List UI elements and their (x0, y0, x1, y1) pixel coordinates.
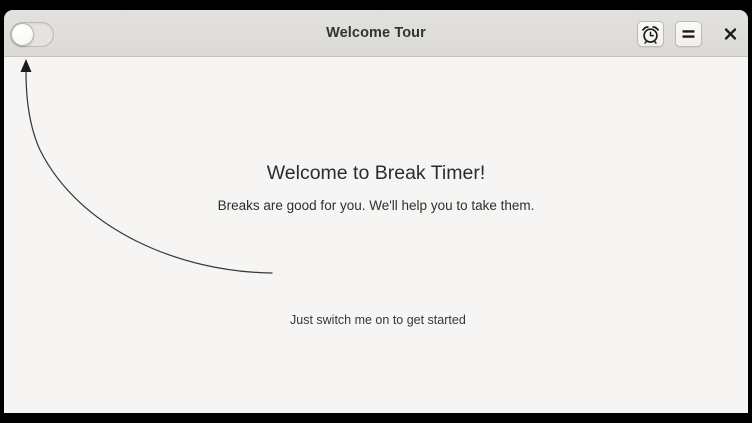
menu-button[interactable] (675, 21, 702, 47)
app-window: Welcome Tour (4, 10, 748, 413)
toggle-knob[interactable] (11, 23, 34, 46)
welcome-heading: Welcome to Break Timer! (4, 162, 748, 185)
titlebar: Welcome Tour (4, 10, 748, 57)
close-icon (717, 34, 744, 51)
welcome-subtitle: Breaks are good for you. We'll help you … (4, 198, 748, 213)
alarm-clock-icon (638, 22, 663, 46)
hamburger-menu-icon (676, 22, 701, 46)
switch-on-hint-label: Just switch me on to get started (290, 313, 466, 327)
desktop-background (0, 413, 752, 423)
enable-break-timer-toggle[interactable] (10, 22, 54, 47)
screen: Welcome Tour (0, 0, 752, 423)
content-area: Welcome to Break Timer! Breaks are good … (4, 57, 748, 413)
close-button[interactable] (717, 21, 744, 47)
timer-button[interactable] (637, 21, 664, 47)
